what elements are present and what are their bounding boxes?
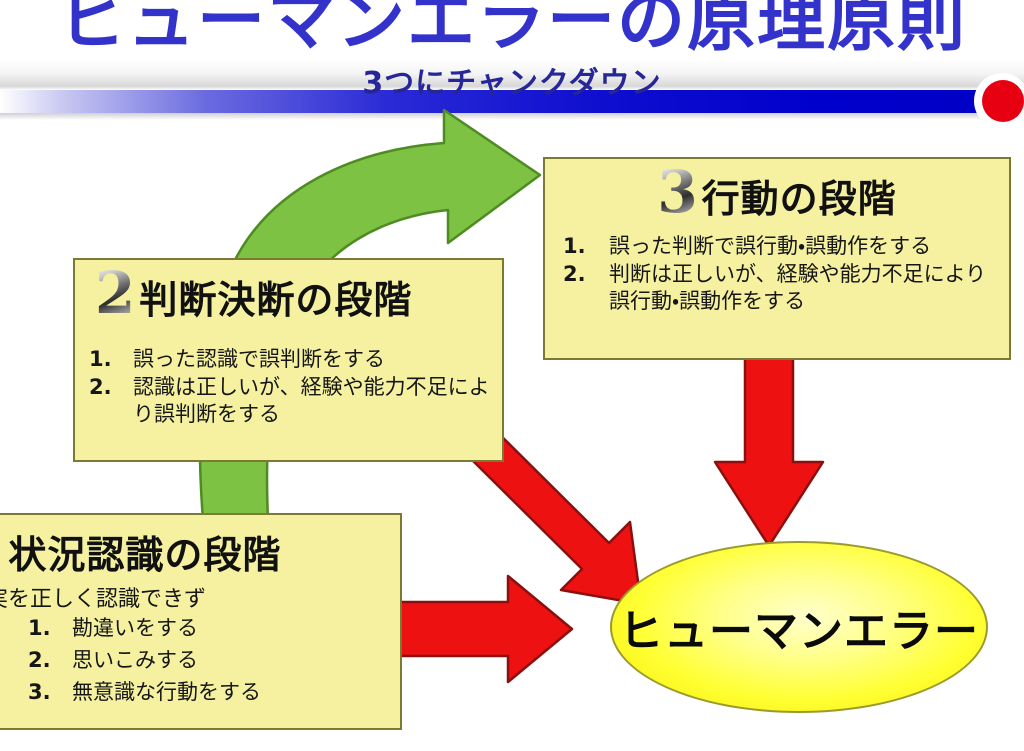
stage-box-1[interactable]: 1 状況認識の段階 事実を正しく認識できず 1. 勘違いをする 2. 思いこみす…	[0, 513, 402, 730]
list-item-text: 判断は正しいが、経験や能力不足により誤行動・誤動作をする	[609, 261, 999, 315]
list-item-text: 認識は正しいが、経験や能力不足により誤判断をする	[133, 374, 492, 428]
list-item-text: 誤った判断で誤行動・誤動作をする	[609, 233, 999, 260]
stage-2-number: 2	[95, 266, 139, 321]
stage-3-heading: 行動の段階	[702, 168, 897, 223]
stage-1-heading: 状況認識の段階	[8, 524, 281, 579]
stage-3-number: 3	[657, 165, 701, 220]
list-item-number: 1.	[89, 346, 133, 373]
list-item: 1. 勘違いをする	[28, 615, 400, 642]
list-item: 1. 誤った判断で誤行動・誤動作をする	[563, 233, 999, 260]
down-arrow-icon	[715, 356, 823, 546]
list-item-number: 2.	[89, 374, 133, 401]
stage-3-header: 3 行動の段階	[545, 159, 1009, 223]
list-item: 2. 判断は正しいが、経験や能力不足により誤行動・誤動作をする	[563, 261, 999, 315]
list-item-number: 1.	[563, 233, 609, 260]
right-arrow-icon	[396, 576, 572, 682]
stage-box-3[interactable]: 3 行動の段階 1. 誤った判断で誤行動・誤動作をする 2. 判断は正しいが、経…	[543, 157, 1011, 360]
stage-2-header: 2 判断決断の段階	[75, 260, 502, 324]
list-item-text: 勘違いをする	[72, 615, 400, 642]
list-item-text: 誤った認識で誤判断をする	[133, 346, 492, 373]
list-item: 2. 思いこみする	[28, 647, 400, 674]
stage-1-lead-text: 事実を正しく認識できず	[0, 581, 400, 613]
list-item-text: 思いこみする	[72, 647, 400, 674]
slide-canvas: ヒューマンエラーの原理原則 3つにチャンクダウン 3 行動の段階 1. 誤った判…	[0, 0, 1024, 751]
list-item-number: 2.	[28, 647, 72, 674]
stage-2-heading: 判断決断の段階	[139, 269, 412, 324]
list-item-number: 2.	[563, 261, 609, 288]
stage-box-2[interactable]: 2 判断決断の段階 1. 誤った認識で誤判断をする 2. 認識は正しいが、経験や…	[73, 258, 504, 462]
list-item: 1. 誤った認識で誤判断をする	[89, 346, 492, 373]
list-item-text: 無意識な行動をする	[72, 679, 400, 706]
stage-3-list: 1. 誤った判断で誤行動・誤動作をする 2. 判断は正しいが、経験や能力不足によ…	[545, 233, 1009, 315]
stage-1-list: 1. 勘違いをする 2. 思いこみする 3. 無意識な行動をする	[0, 615, 400, 706]
stage-1-header: 1 状況認識の段階	[0, 515, 400, 579]
list-item: 3. 無意識な行動をする	[28, 679, 400, 706]
outcome-label: ヒューマンエラー	[619, 595, 979, 659]
stage-1-number: 1	[0, 521, 8, 576]
outcome-ellipse[interactable]: ヒューマンエラー	[610, 541, 988, 713]
stage-2-list: 1. 誤った認識で誤判断をする 2. 認識は正しいが、経験や能力不足により誤判断…	[75, 346, 502, 428]
list-item-number: 1.	[28, 615, 72, 642]
list-item-number: 3.	[28, 679, 72, 706]
list-item: 2. 認識は正しいが、経験や能力不足により誤判断をする	[89, 374, 492, 428]
